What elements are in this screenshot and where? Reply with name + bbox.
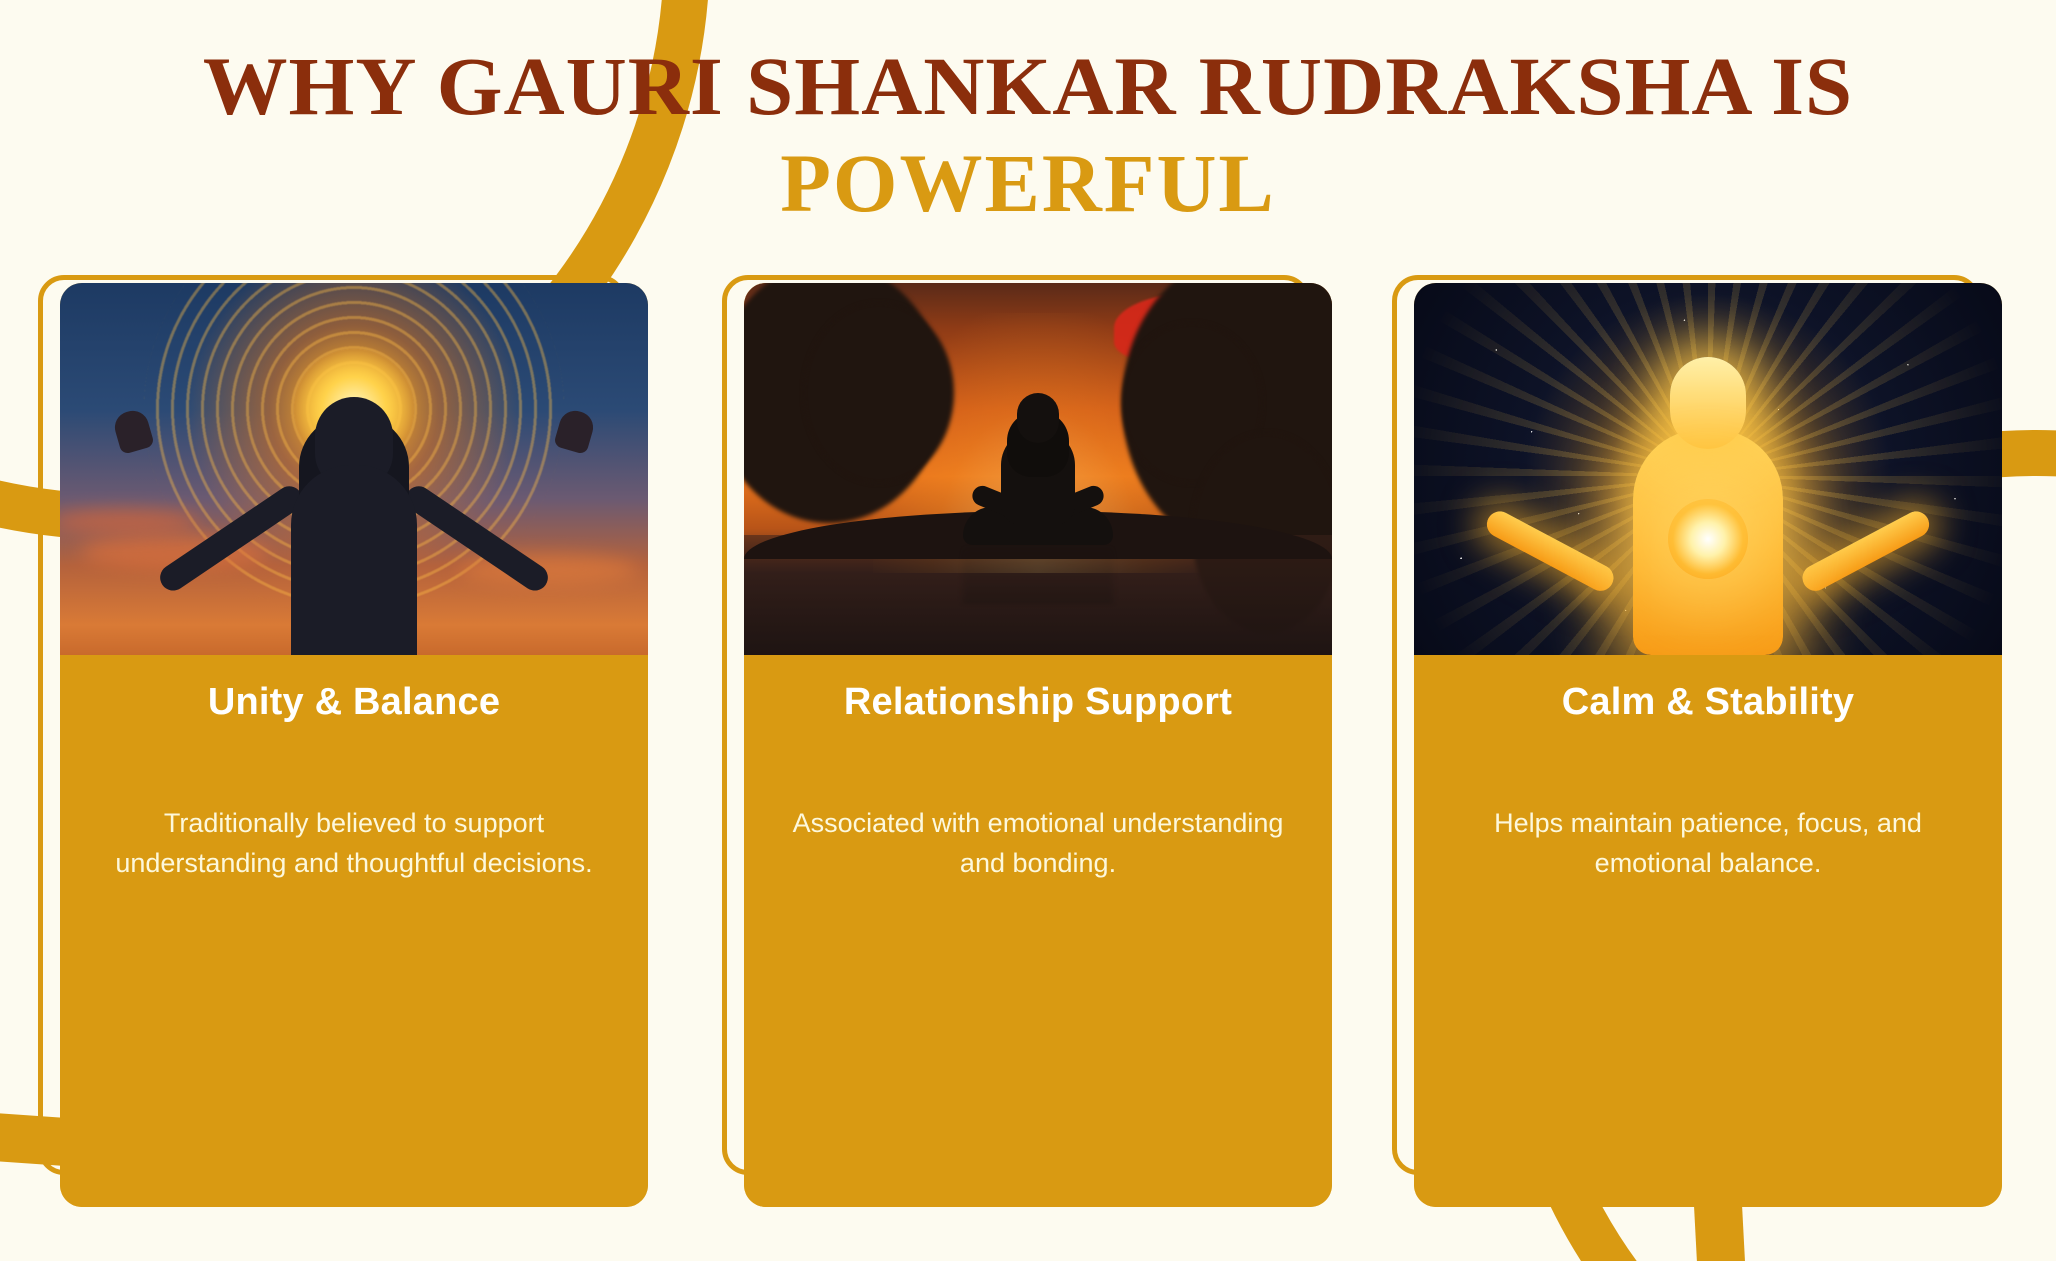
benefit-card-relationship-support: Relationship Support Associated with emo… bbox=[722, 275, 1322, 1215]
card-3-body: Calm & Stability Helps maintain patience… bbox=[1414, 655, 2002, 1207]
benefit-card-calm-stability: Calm & Stability Helps maintain patience… bbox=[1392, 275, 1992, 1215]
card-1-illustration bbox=[60, 283, 648, 655]
card-2-description: Associated with emotional understanding … bbox=[778, 803, 1298, 884]
card-2: Relationship Support Associated with emo… bbox=[744, 283, 1332, 1207]
benefit-card-list: Unity & Balance Traditionally believed t… bbox=[0, 275, 2056, 1215]
benefit-card-unity-balance: Unity & Balance Traditionally believed t… bbox=[38, 275, 638, 1215]
card-3-illustration bbox=[1414, 283, 2002, 655]
cloud-icon bbox=[60, 509, 200, 533]
figure-head bbox=[1017, 393, 1059, 443]
page-title-line-1: WHY GAURI SHANKAR RUDRAKSHA IS bbox=[0, 45, 2056, 128]
card-3-title: Calm & Stability bbox=[1448, 681, 1968, 725]
card-1-description: Traditionally believed to support unders… bbox=[94, 803, 614, 884]
page-title-line-2: POWERFUL bbox=[0, 142, 2056, 225]
heart-chakra-glow-icon bbox=[1668, 499, 1748, 579]
card-1-title: Unity & Balance bbox=[94, 681, 614, 725]
figure-head bbox=[1670, 357, 1746, 449]
tree-silhouette-icon bbox=[804, 303, 954, 483]
figure-torso bbox=[291, 465, 417, 655]
infographic-canvas: WHY GAURI SHANKAR RUDRAKSHA IS POWERFUL bbox=[0, 0, 2056, 1261]
page-title: WHY GAURI SHANKAR RUDRAKSHA IS POWERFUL bbox=[0, 45, 2056, 225]
figure-reflection bbox=[963, 544, 1113, 605]
card-2-title: Relationship Support bbox=[778, 681, 1298, 725]
card-3-description: Helps maintain patience, focus, and emot… bbox=[1448, 803, 1968, 884]
card-3: Calm & Stability Helps maintain patience… bbox=[1414, 283, 2002, 1207]
meditating-figure bbox=[963, 401, 1113, 551]
card-2-body: Relationship Support Associated with emo… bbox=[744, 655, 1332, 1207]
card-2-illustration bbox=[744, 283, 1332, 655]
card-1-body: Unity & Balance Traditionally believed t… bbox=[60, 655, 648, 1207]
card-1: Unity & Balance Traditionally believed t… bbox=[60, 283, 648, 1207]
